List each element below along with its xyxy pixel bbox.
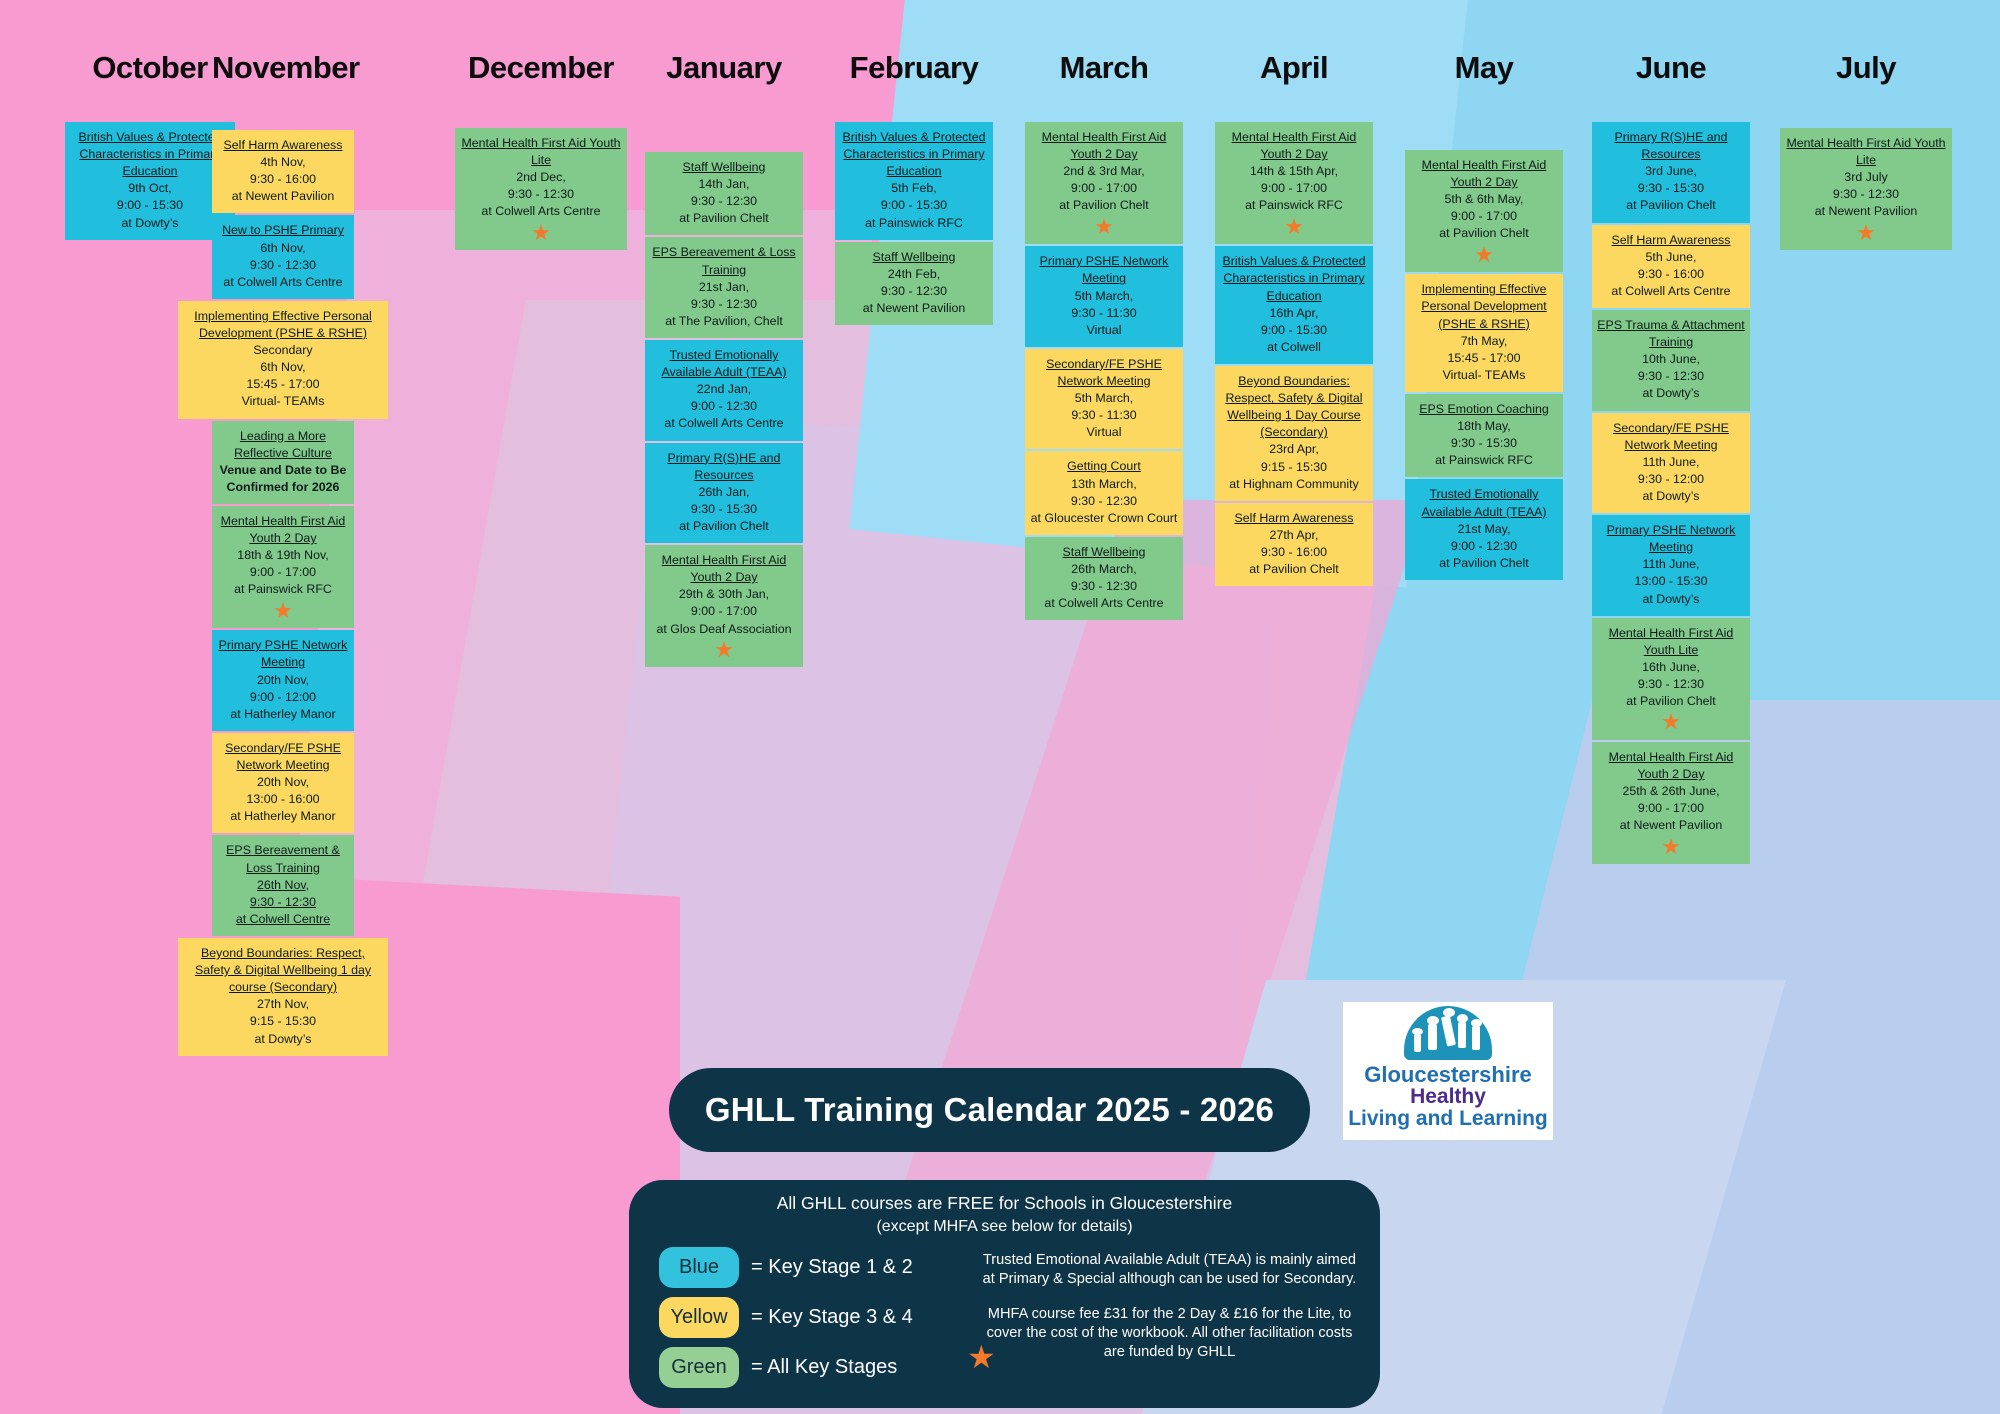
event-title: EPS Bereavement & Loss Training xyxy=(650,244,798,278)
event-card[interactable]: Beyond Boundaries: Respect, Safety & Dig… xyxy=(1215,366,1373,501)
event-title: Trusted Emotionally Available Adult (TEA… xyxy=(1410,486,1558,520)
legend-key-list: Blue = Key Stage 1 & 2 Yellow = Key Stag… xyxy=(651,1247,981,1397)
event-card[interactable]: British Values & Protected Characteristi… xyxy=(65,122,235,240)
event-title: EPS Trauma & Attachment Training xyxy=(1597,317,1745,351)
legend-free-note: All GHLL courses are FREE for Schools in… xyxy=(651,1192,1358,1216)
event-date: 5th & 6th May, xyxy=(1410,191,1558,208)
star-icon: ★ xyxy=(1597,712,1745,732)
event-venue: at Pavilion Chelt xyxy=(1410,555,1558,572)
event-time: 9:30 - 12:30 xyxy=(1785,186,1947,203)
month-heading: November xyxy=(212,50,354,86)
event-time: 9:30 - 12:30 xyxy=(650,296,798,313)
event-date: 11th June, xyxy=(1597,556,1745,573)
event-card[interactable]: Mental Health First Aid Youth 2 Day25th … xyxy=(1592,742,1750,864)
event-time: 9:30 - 15:30 xyxy=(650,501,798,518)
event-time: 13:00 - 15:30 xyxy=(1597,573,1745,590)
event-title: New to PSHE Primary xyxy=(217,222,349,239)
event-date: 26th Nov, xyxy=(217,877,349,894)
event-card[interactable]: British Values & Protected Characteristi… xyxy=(1215,246,1373,364)
star-icon: ★ xyxy=(967,1341,996,1373)
event-title: Primary PSHE Network Meeting xyxy=(1597,522,1745,556)
event-time: 9:30 - 12:30 xyxy=(840,283,988,300)
event-title: EPS Emotion Coaching xyxy=(1410,401,1558,418)
event-date: 21st Jan, xyxy=(650,279,798,296)
month-heading: March xyxy=(1025,50,1183,86)
event-card[interactable]: Implementing Effective Personal Developm… xyxy=(178,301,388,419)
month-heading: July xyxy=(1780,50,1952,86)
event-title: Mental Health First Aid Youth 2 Day xyxy=(1410,157,1558,191)
event-time: 15:45 - 17:00 xyxy=(1410,350,1558,367)
event-card[interactable]: Staff Wellbeing26th March,9:30 - 12:30at… xyxy=(1025,537,1183,620)
event-venue: Virtual xyxy=(1030,424,1178,441)
event-date: 24th Feb, xyxy=(840,266,988,283)
event-venue: at Colwell Arts Centre xyxy=(1597,283,1745,300)
event-date: 9th Oct, xyxy=(70,180,230,197)
legend-key-yellow: Yellow = Key Stage 3 & 4 xyxy=(651,1297,981,1338)
event-venue: at The Pavilion, Chelt xyxy=(650,313,798,330)
event-title: Mental Health First Aid Youth Lite xyxy=(1597,625,1745,659)
event-venue: at Newent Pavilion xyxy=(1597,817,1745,834)
event-venue: Virtual- TEAMs xyxy=(183,393,383,410)
event-time: 9:30 - 12:00 xyxy=(1597,471,1745,488)
logo-people-icon xyxy=(1404,1006,1492,1060)
event-venue: at Painswick RFC xyxy=(1220,197,1368,214)
event-venue: Virtual- TEAMs xyxy=(1410,367,1558,384)
event-card[interactable]: Primary R(S)HE and Resources 26th Jan,9:… xyxy=(645,443,803,544)
legend-key-green: Green = All Key Stages xyxy=(651,1347,981,1388)
event-date: 20th Nov, xyxy=(217,672,349,689)
legend-panel: All GHLL courses are FREE for Schools in… xyxy=(629,1180,1380,1408)
event-time: 9:00 - 15:30 xyxy=(70,197,230,214)
event-date: 3rd July xyxy=(1785,169,1947,186)
event-venue: at Dowty’s xyxy=(1597,385,1745,402)
event-date: 29th & 30th Jan, xyxy=(650,586,798,603)
event-date: 6th Nov, xyxy=(183,359,383,376)
event-card-list: British Values & Protected Characteristi… xyxy=(65,122,235,242)
event-time: 9:15 - 15:30 xyxy=(1220,459,1368,476)
event-card-list: Primary R(S)HE and Resources3rd June,9:3… xyxy=(1592,122,1750,866)
event-time: 9:00 - 17:00 xyxy=(650,603,798,620)
month-heading: October xyxy=(65,50,235,86)
event-card[interactable]: Mental Health First Aid Youth 2 Day18th … xyxy=(212,506,354,628)
star-icon: ★ xyxy=(1597,837,1745,857)
event-title: Mental Health First Aid Youth 2 Day xyxy=(650,552,798,586)
legend-mhfa-note: (except MHFA see below for details) xyxy=(651,1216,1358,1238)
event-card[interactable]: Primary R(S)HE and Resources3rd June,9:3… xyxy=(1592,122,1750,223)
event-venue: at Dowty’s xyxy=(1597,591,1745,608)
event-time: 9:00 - 17:00 xyxy=(217,564,349,581)
event-title: Secondary/FE PSHE Network Meeting xyxy=(1597,420,1745,454)
event-time: 9:30 - 12:30 xyxy=(460,186,622,203)
star-icon: ★ xyxy=(460,223,622,243)
event-time: 9:00 - 12:00 xyxy=(217,689,349,706)
event-card[interactable]: Trusted Emotionally Available Adult (TEA… xyxy=(1405,479,1563,580)
event-venue: at Pavilion Chelt xyxy=(650,210,798,227)
legend-label-green: = All Key Stages xyxy=(751,1356,897,1379)
event-title: Self Harm Awareness xyxy=(1220,510,1368,527)
event-card[interactable]: Mental Health First Aid Youth 2 Day2nd &… xyxy=(1025,122,1183,244)
event-time: 9:00 - 17:00 xyxy=(1220,180,1368,197)
event-time: 9:30 - 12:30 xyxy=(1030,578,1178,595)
event-card[interactable]: Mental Health First Aid Youth 2 Day 29th… xyxy=(645,545,803,667)
event-title: Mental Health First Aid Youth Lite xyxy=(1785,135,1947,169)
event-time: 15:45 - 17:00 xyxy=(183,376,383,393)
event-venue: at Pavilion Chelt xyxy=(1597,693,1745,710)
event-card[interactable]: Mental Health First Aid Youth Lite3rd Ju… xyxy=(1780,128,1952,250)
event-card[interactable]: EPS Emotion Coaching18th May,9:30 - 15:3… xyxy=(1405,394,1563,477)
event-venue: at Colwell Arts Centre xyxy=(650,415,798,432)
event-card[interactable]: Mental Health First Aid Youth 2 Day5th &… xyxy=(1405,150,1563,272)
event-date: 18th May, xyxy=(1410,418,1558,435)
event-venue: at Newent Pavilion xyxy=(1785,203,1947,220)
star-icon: ★ xyxy=(650,640,798,660)
event-date: 21st May, xyxy=(1410,521,1558,538)
event-venue: at Glos Deaf Association xyxy=(650,621,798,638)
event-date: 5th March, xyxy=(1030,288,1178,305)
event-date: 20th Nov, xyxy=(217,774,349,791)
event-title: Mental Health First Aid Youth Lite xyxy=(460,135,622,169)
event-time: 9:30 - 12:30 xyxy=(1030,493,1178,510)
event-time: 9:30 - 12:30 xyxy=(1597,368,1745,385)
event-time: 9:30 - 12:30 xyxy=(217,257,349,274)
event-date: 18th & 19th Nov, xyxy=(217,547,349,564)
event-date: 27th Nov, xyxy=(183,996,383,1013)
event-card[interactable]: Trusted Emotionally Available Adult (TEA… xyxy=(645,340,803,441)
event-card[interactable]: Primary PSHE Network Meeting11th June,13… xyxy=(1592,515,1750,616)
event-card[interactable]: Secondary/FE PSHE Network Meeting5th Mar… xyxy=(1025,349,1183,450)
event-time: 9:00 - 15:30 xyxy=(840,197,988,214)
event-card[interactable]: Primary PSHE Network Meeting5th March,9:… xyxy=(1025,246,1183,347)
event-card[interactable]: EPS Bereavement & Loss Training 21st Jan… xyxy=(645,237,803,338)
event-date: 26th March, xyxy=(1030,561,1178,578)
star-icon: ★ xyxy=(1030,217,1178,237)
event-card-list: Mental Health First Aid Youth Lite3rd Ju… xyxy=(1780,128,1952,252)
event-title: Primary R(S)HE and Resources xyxy=(1597,129,1745,163)
event-venue: at Pavilion Chelt xyxy=(1220,561,1368,578)
event-venue: at Painswick RFC xyxy=(1410,452,1558,469)
event-date: 2nd & 3rd Mar, xyxy=(1030,163,1178,180)
event-card[interactable]: Mental Health First Aid Youth 2 Day 14th… xyxy=(1215,122,1373,244)
logo-line-1: Gloucestershire xyxy=(1364,1063,1532,1086)
event-venue: at Pavilion Chelt xyxy=(1410,225,1558,242)
month-heading: April xyxy=(1215,50,1373,86)
event-time: 9:30 - 12:30 xyxy=(1597,676,1745,693)
event-time: 9:30 - 16:00 xyxy=(1220,544,1368,561)
logo-line-3: Living and Learning xyxy=(1348,1108,1548,1130)
event-time: 9:00 - 17:00 xyxy=(1410,208,1558,225)
event-time: 9:30 - 15:30 xyxy=(1410,435,1558,452)
event-date: 3rd June, xyxy=(1597,163,1745,180)
event-venue: at Hatherley Manor xyxy=(217,706,349,723)
event-date: 22nd Jan, xyxy=(650,381,798,398)
event-time: 9:30 - 11:30 xyxy=(1030,407,1178,424)
event-date: 5th March, xyxy=(1030,390,1178,407)
event-card-list: Mental Health First Aid Youth 2 Day2nd &… xyxy=(1025,122,1183,622)
event-date: 7th May, xyxy=(1410,333,1558,350)
event-venue: at Painswick RFC xyxy=(840,215,988,232)
event-venue: at Colwell Arts Centre xyxy=(460,203,622,220)
month-heading: June xyxy=(1592,50,1750,86)
event-venue: at Newent Pavilion xyxy=(840,300,988,317)
event-venue: at Dowty’s xyxy=(183,1031,383,1048)
legend-label-yellow: = Key Stage 3 & 4 xyxy=(751,1306,913,1329)
event-card[interactable]: Mental Health First Aid Youth Lite16th J… xyxy=(1592,618,1750,740)
event-card[interactable]: Secondary/FE PSHE Network Meeting11th Ju… xyxy=(1592,413,1750,514)
event-title: Implementing Effective Personal Developm… xyxy=(1410,281,1558,332)
event-title: Staff Wellbeing xyxy=(1030,544,1178,561)
event-venue: at Newent Pavilion xyxy=(217,188,349,205)
event-card-list: Staff Wellbeing 14th Jan,9:30 - 12:30at … xyxy=(645,152,803,669)
event-card[interactable]: Self Harm Awareness 5th June,9:30 - 16:0… xyxy=(1592,225,1750,308)
legend-teaa-note: Trusted Emotional Available Adult (TEAA)… xyxy=(981,1251,1358,1289)
event-card-list: Mental Health First Aid Youth 2 Day5th &… xyxy=(1405,150,1563,582)
star-icon: ★ xyxy=(1785,223,1947,243)
event-venue: at Pavilion Chelt xyxy=(650,518,798,535)
event-card[interactable]: Self Harm Awareness 27th Apr,9:30 - 16:0… xyxy=(1215,503,1373,586)
event-date: 14th Jan, xyxy=(650,176,798,193)
event-title: EPS Bereavement & Loss Training xyxy=(217,842,349,876)
event-title: Mental Health First Aid Youth 2 Day xyxy=(1597,749,1745,783)
event-card-list: Mental Health First Aid Youth Lite 2nd D… xyxy=(455,128,627,252)
event-title: Beyond Boundaries: Respect, Safety & Dig… xyxy=(1220,373,1368,441)
event-title: Secondary/FE PSHE Network Meeting xyxy=(217,740,349,774)
event-date: 13th March, xyxy=(1030,476,1178,493)
event-venue: at Colwell xyxy=(1220,339,1368,356)
event-date: 23rd Apr, xyxy=(1220,441,1368,458)
event-title: British Values & Protected Characteristi… xyxy=(70,129,230,180)
event-date: 16th June, xyxy=(1597,659,1745,676)
event-title: Secondary/FE PSHE Network Meeting xyxy=(1030,356,1178,390)
event-card-list: Mental Health First Aid Youth 2 Day 14th… xyxy=(1215,122,1373,588)
event-card[interactable]: Beyond Boundaries: Respect, Safety & Dig… xyxy=(178,938,388,1056)
event-date: 4th Nov, xyxy=(217,154,349,171)
event-card[interactable]: Staff Wellbeing 14th Jan,9:30 - 12:30at … xyxy=(645,152,803,235)
event-time: 9:00 - 17:00 xyxy=(1597,800,1745,817)
event-venue: at Hatherley Manor xyxy=(217,808,349,825)
event-title: Beyond Boundaries: Respect, Safety & Dig… xyxy=(183,945,383,996)
event-card[interactable]: Staff Wellbeing 24th Feb,9:30 - 12:30at … xyxy=(835,242,993,325)
event-title: Staff Wellbeing xyxy=(840,249,988,266)
month-heading: January xyxy=(645,50,803,86)
legend-chip-yellow: Yellow xyxy=(659,1297,739,1338)
event-title: Primary PSHE Network Meeting xyxy=(217,637,349,671)
star-icon: ★ xyxy=(1410,245,1558,265)
event-venue: at Highnam Community xyxy=(1220,476,1368,493)
event-venue: at Painswick RFC xyxy=(217,581,349,598)
event-venue: at Colwell Arts Centre xyxy=(217,274,349,291)
event-time: 9:00 - 12:30 xyxy=(1410,538,1558,555)
event-card[interactable]: Primary PSHE Network Meeting20th Nov,9:0… xyxy=(212,630,354,731)
star-icon: ★ xyxy=(217,601,349,621)
event-time: 9:00 - 17:00 xyxy=(1030,180,1178,197)
event-time: 9:30 - 12:30 xyxy=(650,193,798,210)
event-time: 9:30 - 11:30 xyxy=(1030,305,1178,322)
event-date: 5th June, xyxy=(1597,249,1745,266)
event-venue: at Colwell Arts Centre xyxy=(1030,595,1178,612)
event-venue: at Pavilion Chelt xyxy=(1597,197,1745,214)
event-card[interactable]: Getting Court 13th March,9:30 - 12:30at … xyxy=(1025,451,1183,534)
logo-line-2: Healthy xyxy=(1410,1086,1486,1108)
event-date: 16th Apr, xyxy=(1220,305,1368,322)
event-date: 11th June, xyxy=(1597,454,1745,471)
event-time: 9:00 - 15:30 xyxy=(1220,322,1368,339)
event-title: British Values & Protected Characteristi… xyxy=(1220,253,1368,304)
legend-key-blue: Blue = Key Stage 1 & 2 xyxy=(651,1247,981,1288)
event-title: Trusted Emotionally Available Adult (TEA… xyxy=(650,347,798,381)
event-title: Staff Wellbeing xyxy=(650,159,798,176)
event-title: Primary PSHE Network Meeting xyxy=(1030,253,1178,287)
star-icon: ★ xyxy=(1220,217,1368,237)
event-venue: at Pavilion Chelt xyxy=(1030,197,1178,214)
event-venue: Virtual xyxy=(1030,322,1178,339)
event-card[interactable]: Mental Health First Aid Youth Lite 2nd D… xyxy=(455,128,627,250)
calendar-title-banner: GHLL Training Calendar 2025 - 2026 xyxy=(669,1068,1310,1152)
ghll-logo: Gloucestershire Healthy Living and Learn… xyxy=(1343,1002,1553,1140)
event-time: 9:30 - 15:30 xyxy=(1597,180,1745,197)
page-title: GHLL Training Calendar 2025 - 2026 xyxy=(705,1091,1274,1129)
event-time: 9:30 - 16:00 xyxy=(217,171,349,188)
event-title: Mental Health First Aid Youth 2 Day xyxy=(1030,129,1178,163)
event-date: 10th June, xyxy=(1597,351,1745,368)
event-title: British Values & Protected Characteristi… xyxy=(840,129,988,180)
event-card[interactable]: Implementing Effective Personal Developm… xyxy=(1405,274,1563,392)
event-time: 9:30 - 16:00 xyxy=(1597,266,1745,283)
event-date: 14th & 15th Apr, xyxy=(1220,163,1368,180)
event-venue: at Dowty’s xyxy=(70,215,230,232)
legend-fee-note: MHFA course fee £31 for the 2 Day & £16 … xyxy=(981,1305,1358,1362)
event-note: Venue and Date to Be Confirmed for 2026 xyxy=(217,462,349,496)
event-card-list: British Values & Protected Characteristi… xyxy=(835,122,993,327)
event-title: Leading a More Reflective Culture xyxy=(217,428,349,462)
event-date: 5th Feb, xyxy=(840,180,988,197)
event-time: 9:15 - 15:30 xyxy=(183,1013,383,1030)
month-heading: February xyxy=(835,50,993,86)
event-title: Implementing Effective Personal Developm… xyxy=(183,308,383,342)
event-card-list: Self Harm Awareness4th Nov,9:30 - 16:00a… xyxy=(212,130,354,1058)
event-venue: at Colwell Centre xyxy=(217,911,349,928)
event-date: 6th Nov, xyxy=(217,240,349,257)
event-card[interactable]: British Values & Protected Characteristi… xyxy=(835,122,993,240)
event-title: Mental Health First Aid Youth 2 Day xyxy=(1220,129,1368,163)
month-heading: December xyxy=(455,50,627,86)
event-time: 9:30 - 12:30 xyxy=(217,894,349,911)
legend-notes: Trusted Emotional Available Adult (TEAA)… xyxy=(981,1247,1358,1397)
event-title: Mental Health First Aid Youth 2 Day xyxy=(217,513,349,547)
event-card[interactable]: EPS Trauma & Attachment Training10th Jun… xyxy=(1592,310,1750,411)
event-title: Primary R(S)HE and Resources xyxy=(650,450,798,484)
event-card[interactable]: New to PSHE Primary 6th Nov,9:30 - 12:30… xyxy=(212,215,354,298)
event-venue: at Dowty’s xyxy=(1597,488,1745,505)
event-title: Self Harm Awareness xyxy=(217,137,349,154)
event-card[interactable]: Self Harm Awareness4th Nov,9:30 - 16:00a… xyxy=(212,130,354,213)
event-date: 2nd Dec, xyxy=(460,169,622,186)
legend-label-blue: = Key Stage 1 & 2 xyxy=(751,1256,913,1279)
event-card[interactable]: Leading a More Reflective CultureVenue a… xyxy=(212,421,354,504)
event-time: 9:00 - 12:30 xyxy=(650,398,798,415)
event-subtitle: Secondary xyxy=(183,342,383,359)
event-date: 27th Apr, xyxy=(1220,527,1368,544)
legend-chip-green: Green xyxy=(659,1347,739,1388)
event-card[interactable]: EPS Bereavement & Loss Training 26th Nov… xyxy=(212,835,354,936)
month-heading: May xyxy=(1405,50,1563,86)
legend-chip-blue: Blue xyxy=(659,1247,739,1288)
event-title: Getting Court xyxy=(1030,458,1178,475)
event-time: 13:00 - 16:00 xyxy=(217,791,349,808)
event-card[interactable]: Secondary/FE PSHE Network Meeting20th No… xyxy=(212,733,354,834)
event-date: 25th & 26th June, xyxy=(1597,783,1745,800)
event-title: Self Harm Awareness xyxy=(1597,232,1745,249)
event-date: 26th Jan, xyxy=(650,484,798,501)
event-venue: at Gloucester Crown Court xyxy=(1030,510,1178,527)
